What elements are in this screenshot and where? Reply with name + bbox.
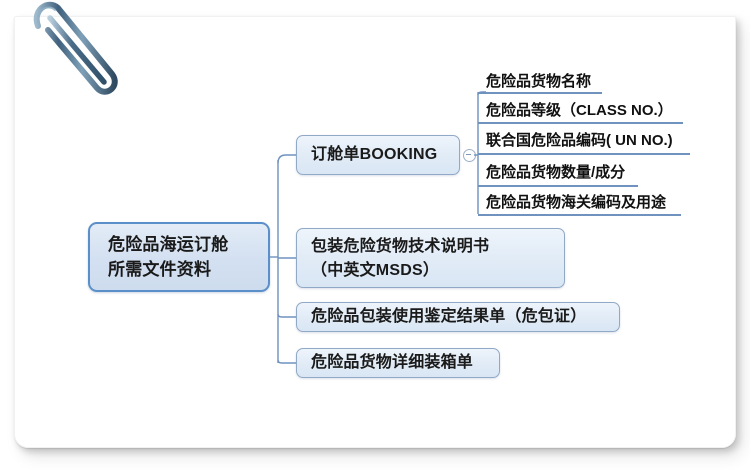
leaf-underline [478, 153, 690, 155]
branch-node-msds[interactable]: 包装危险货物技术说明书 （中英文MSDS） [296, 228, 565, 288]
branch-node-packing-list[interactable]: 危险品货物详细装箱单 [296, 348, 500, 378]
paperclip-icon [26, 0, 146, 104]
leaf-node-quantity-composition[interactable]: 危险品货物数量/成分 [486, 163, 625, 185]
collapse-toggle-icon[interactable] [463, 149, 476, 162]
leaf-node-hs-code-usage[interactable]: 危险品货物海关编码及用途 [486, 193, 666, 215]
root-node[interactable]: 危险品海运订舱 所需文件资料 [88, 222, 270, 292]
screenshot-canvas: 危险品海运订舱 所需文件资料 订舱单BOOKING 包装危险货物技术说明书 （中… [0, 0, 750, 470]
branch-node-booking[interactable]: 订舱单BOOKING [296, 135, 460, 175]
leaf-node-un-no[interactable]: 联合国危险品编码( UN NO.) [486, 131, 673, 153]
branch-node-packaging-certificate[interactable]: 危险品包装使用鉴定结果单（危包证） [296, 302, 620, 332]
leaf-node-class-no[interactable]: 危险品等级（CLASS NO.） [486, 101, 673, 123]
leaf-underline [478, 185, 638, 187]
leaf-node-cargo-name[interactable]: 危险品货物名称 [486, 72, 591, 94]
